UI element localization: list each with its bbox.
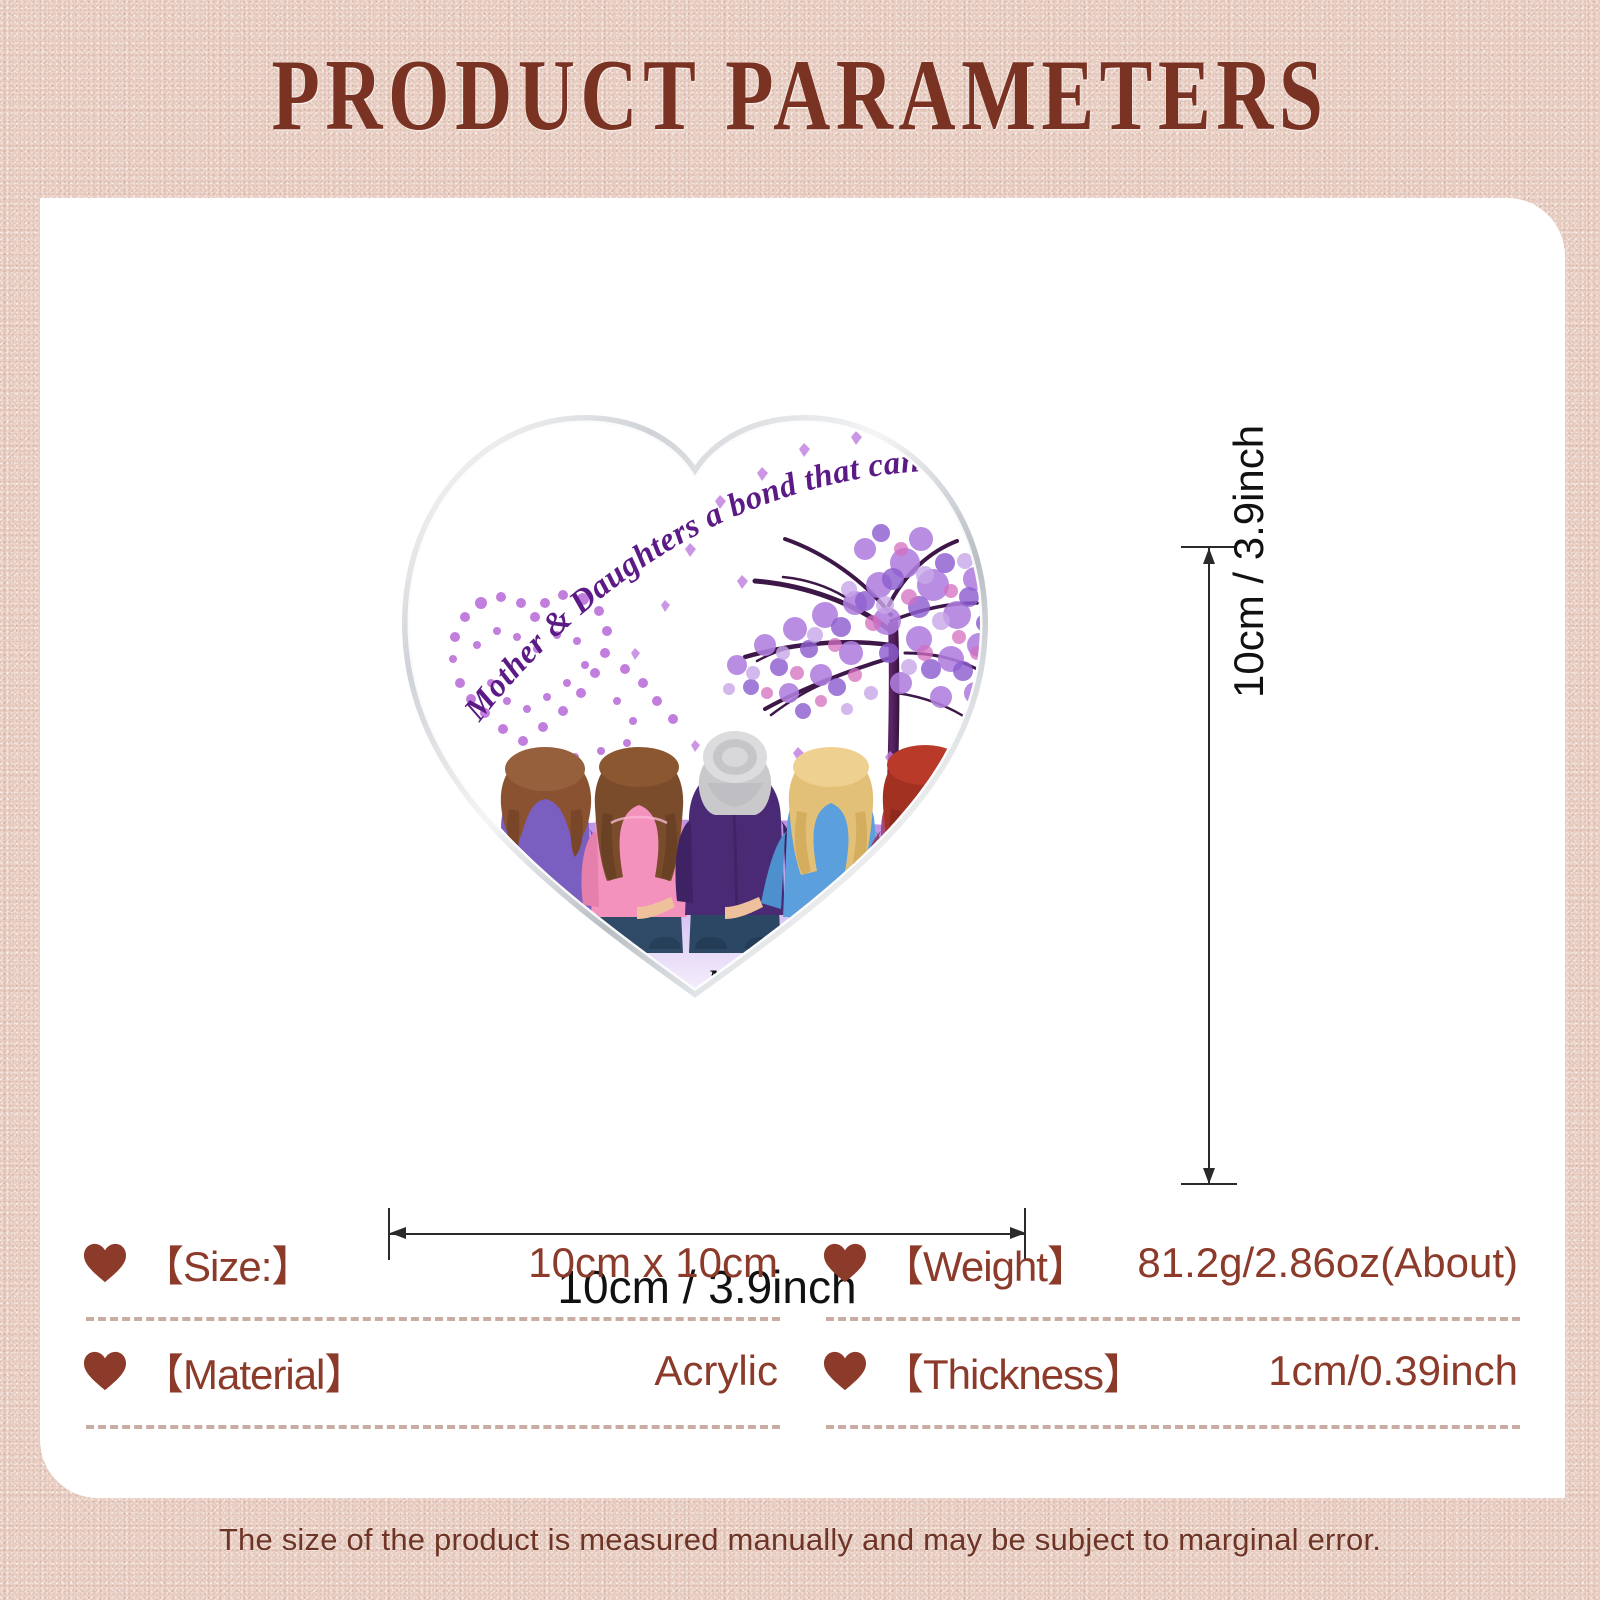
heart-icon [822,1350,868,1392]
name-label-3: Olivia [800,966,863,993]
name-label-4: Lana [897,966,952,993]
spec-value-size: 10cm x 10cm [312,1239,782,1287]
vertical-dimension-arrow-up [1203,548,1215,564]
heart-icon [82,1350,128,1392]
product-showcase: Mother & Daughters a bond that cant be B… [40,198,1565,1178]
spec-value-weight: 81.2g/2.86oz(About) [1088,1239,1522,1287]
heart-icon [82,1242,128,1284]
vertical-dimension-line [1208,546,1210,1184]
vertical-dimension-arrow-down [1203,1168,1215,1184]
spec-value-material: Acrylic [365,1347,782,1395]
infographic-page: PRODUCT PARAMETERS [0,0,1600,1600]
page-title: PRODUCT PARAMETERS [64,44,1536,145]
spec-key-thickness: 【Thickness】 [882,1341,1144,1402]
spec-row-material: 【Material】 Acrylic [82,1321,782,1429]
heart-acrylic-plaque: Mother & Daughters a bond that cant be B… [385,353,1005,998]
spec-column-left: 【Size:】 10cm x 10cm 【Material】 Acrylic [82,1213,782,1429]
spec-row-thickness: 【Thickness】 1cm/0.39inch [822,1321,1522,1429]
content-card: Mother & Daughters a bond that cant be B… [40,198,1565,1498]
spec-key-weight: 【Weight】 [882,1233,1088,1294]
spec-value-thickness: 1cm/0.39inch [1144,1347,1522,1395]
spec-column-right: 【Weight】 81.2g/2.86oz(About) 【Thickness】… [822,1213,1522,1429]
spec-row-weight: 【Weight】 81.2g/2.86oz(About) [822,1213,1522,1321]
name-label-0: Eileen [511,966,579,993]
spec-row-size: 【Size:】 10cm x 10cm [82,1213,782,1321]
spec-key-material: 【Material】 [142,1341,365,1402]
spec-divider [86,1425,780,1429]
footer-note: The size of the product is measured manu… [0,1522,1600,1558]
spec-divider [826,1425,1520,1429]
family-figures [488,731,992,953]
spec-key-size: 【Size:】 [142,1233,312,1294]
heart-icon [822,1242,868,1284]
vertical-dimension-label: 10cm / 3.9inch [1225,358,1273,698]
